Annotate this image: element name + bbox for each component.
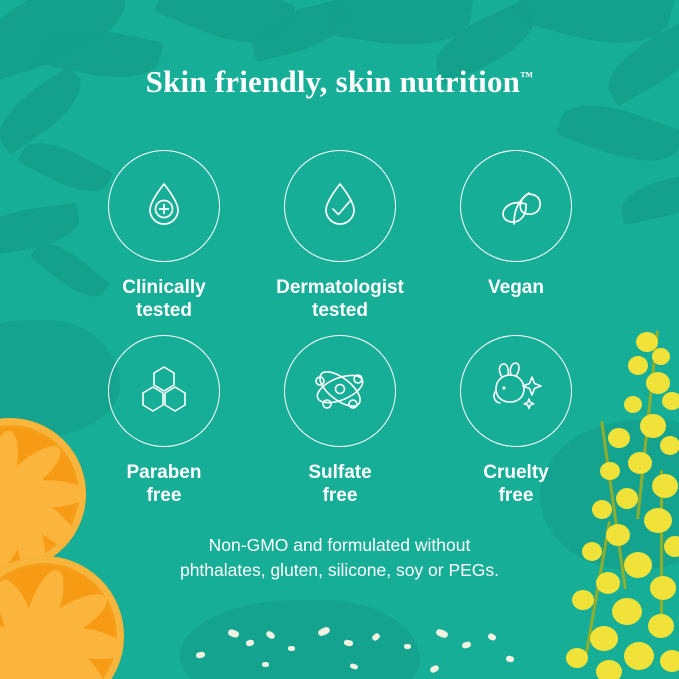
page-title: Skin friendly, skin nutrition™ [0,64,679,100]
droplet-plus-icon [133,173,195,240]
leaf-icon [484,172,548,241]
claim-label: Vegan [488,276,544,299]
claim-dermatologist-tested: Dermatologist tested [252,150,428,335]
claim-label: Dermatologist tested [276,276,404,322]
headline-text: Skin friendly, skin nutrition [146,64,521,99]
claim-icon-circle [284,150,396,262]
claim-vegan: Vegan [428,150,604,335]
rabbit-sparkle-icon [482,355,550,428]
claim-label: Cruelty free [483,461,548,507]
footnote-text: Non-GMO and formulated without phthalate… [0,533,679,584]
atom-icon [306,355,374,428]
claims-grid: Clinically tested Dermatologist tested [76,150,604,520]
claim-icon-circle [108,335,220,447]
claim-label: Clinically tested [122,276,205,322]
claim-paraben-free: Paraben free [76,335,252,520]
claim-icon-circle [108,150,220,262]
claim-label: Sulfate free [308,461,371,507]
claim-icon-circle [460,335,572,447]
claim-icon-circle [460,150,572,262]
molecule-hexagons-icon [132,357,196,426]
claim-label: Paraben free [127,461,202,507]
claim-clinically-tested: Clinically tested [76,150,252,335]
droplet-check-icon [309,173,371,240]
trademark-symbol: ™ [520,69,533,84]
claim-cruelty-free: Cruelty free [428,335,604,520]
claim-icon-circle [284,335,396,447]
orange-slice-upper [0,418,86,570]
claim-sulfate-free: Sulfate free [252,335,428,520]
promo-banner: Skin friendly, skin nutrition™ Clinicall… [0,0,679,679]
